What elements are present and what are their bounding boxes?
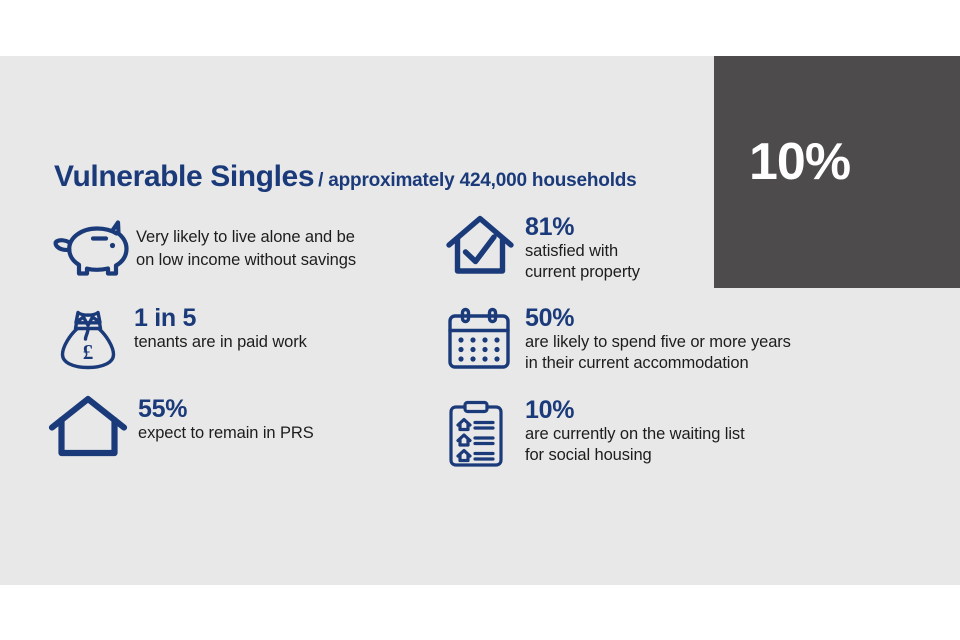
- stat-text: 55% expect to remain in PRS: [138, 392, 314, 444]
- stat-text: Very likely to live alone and be on low …: [136, 216, 356, 272]
- stat-figure: 1 in 5: [134, 305, 307, 332]
- piggy-bank-icon: [52, 216, 130, 282]
- stat-text: 81% satisfied with current property: [525, 212, 640, 284]
- stat-item-remain-prs: 55% expect to remain in PRS: [44, 392, 314, 462]
- stat-item-satisfied: 81% satisfied with current property: [443, 212, 640, 284]
- stat-item-paid-work: £ 1 in 5 tenants are in paid work: [52, 303, 307, 375]
- stat-figure: 10%: [525, 397, 745, 424]
- stat-figure: 81%: [525, 214, 640, 241]
- stat-item-waiting-list: 10% are currently on the waiting list fo…: [443, 397, 745, 471]
- page-title-main: Vulnerable Singles: [54, 160, 314, 193]
- stat-description: are currently on the waiting list for so…: [525, 424, 745, 468]
- stat-item-live-alone: Very likely to live alone and be on low …: [52, 216, 356, 282]
- stat-description: Very likely to live alone and be on low …: [136, 226, 356, 272]
- clipboard-houses-icon: [443, 397, 515, 471]
- stat-figure: 55%: [138, 396, 314, 423]
- stat-text: 10% are currently on the waiting list fo…: [525, 397, 745, 467]
- stat-description: satisfied with current property: [525, 241, 640, 285]
- infographic-canvas: 10% Vulnerable Singles/ approximately 42…: [0, 0, 960, 640]
- stat-text: 1 in 5 tenants are in paid work: [134, 303, 307, 353]
- highlight-figure: 10%: [749, 136, 850, 188]
- money-bag-icon: £: [52, 303, 124, 375]
- house-icon: [44, 392, 132, 462]
- stat-description: expect to remain in PRS: [138, 423, 314, 445]
- house-check-icon: [443, 212, 517, 282]
- stat-figure: 50%: [525, 305, 791, 332]
- page-title: Vulnerable Singles/ approximately 424,00…: [54, 160, 637, 194]
- svg-text:£: £: [83, 340, 94, 364]
- stat-item-five-years: 50% are likely to spend five or more yea…: [443, 303, 791, 375]
- stat-text: 50% are likely to spend five or more yea…: [525, 303, 791, 375]
- page-title-sub: / approximately 424,000 households: [318, 170, 636, 191]
- calendar-icon: [443, 303, 515, 375]
- stat-description: tenants are in paid work: [134, 332, 307, 354]
- stat-description: are likely to spend five or more years i…: [525, 332, 791, 376]
- highlight-panel: 10%: [714, 56, 960, 288]
